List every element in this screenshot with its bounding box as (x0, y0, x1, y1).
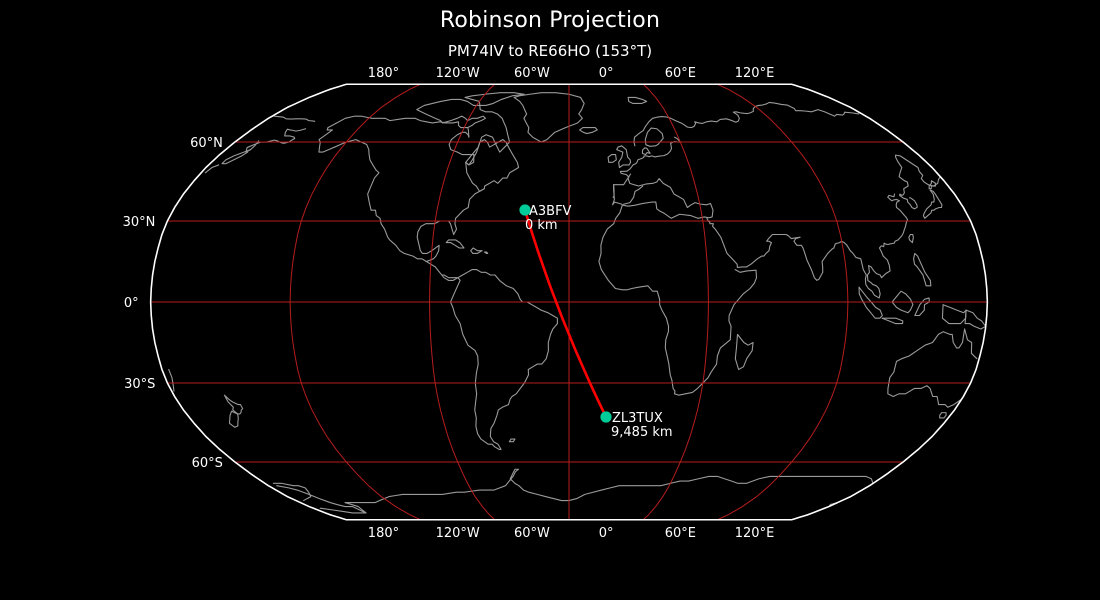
lat-tick-label: 0° (124, 296, 139, 311)
lon-tick-label-top: 180° (368, 66, 399, 81)
lon-tick-label-bottom: 60°E (665, 526, 696, 541)
lon-tick-label-bottom: 0° (599, 526, 614, 541)
marker-zl3tux[interactable]: ZL3TUX9,485 km (600, 411, 672, 440)
lat-tick-label: 30°S (124, 377, 155, 392)
map-figure: Robinson Projection PM74IV to RE66HO (15… (0, 0, 1100, 600)
lat-tick-label: 60°N (190, 136, 223, 151)
world-map[interactable]: A3BFV0 kmZL3TUX9,485 km 0°0°60°E60°E120°… (0, 0, 1100, 600)
lon-tick-label-bottom: 120°W (436, 526, 480, 541)
lat-tick-label: 30°N (123, 215, 156, 230)
lon-tick-label-bottom: 60°W (514, 526, 550, 541)
marker-dot[interactable] (600, 411, 611, 422)
lon-tick-label-top: 60°E (665, 66, 696, 81)
lon-tick-label-top: 120°E (735, 66, 775, 81)
coastlines-group (169, 93, 986, 513)
lon-tick-label-bottom: 120°E (735, 526, 775, 541)
lon-tick-label-top: 0° (599, 66, 614, 81)
marker-a3bfv[interactable]: A3BFV0 km (519, 204, 571, 233)
markers-group[interactable]: A3BFV0 kmZL3TUX9,485 km (519, 204, 672, 440)
lon-tick-label-top: 120°W (436, 66, 480, 81)
marker-distance-label: 9,485 km (611, 425, 673, 440)
lon-tick-label-top: 60°W (514, 66, 550, 81)
marker-distance-label: 0 km (525, 218, 558, 233)
graticule-group (151, 84, 988, 520)
lat-tick-label: 60°S (192, 456, 223, 471)
marker-callsign-label: ZL3TUX (612, 411, 663, 426)
marker-callsign-label: A3BFV (529, 204, 572, 219)
lon-tick-label-bottom: 180° (368, 526, 399, 541)
great-circle-path-group (525, 210, 606, 417)
